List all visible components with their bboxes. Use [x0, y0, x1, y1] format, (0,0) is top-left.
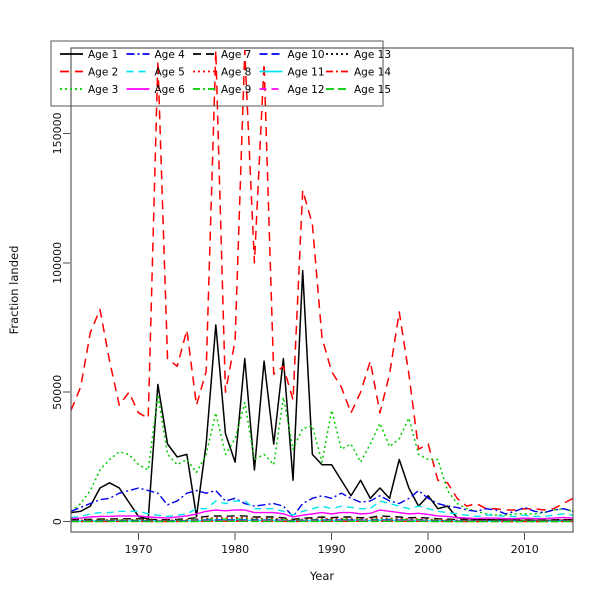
x-tick-label: 1990 — [318, 543, 346, 556]
legend-label: Age 13 — [354, 49, 391, 61]
fraction-landed-line-chart: 19701980199020002010 050000100000150000 … — [0, 0, 600, 600]
y-tick-label: 100000 — [51, 242, 64, 284]
legend-label: Age 5 — [155, 67, 185, 79]
legend-label: Age 1 — [88, 49, 118, 61]
y-tick-label: 50000 — [51, 375, 64, 410]
y-tick-label: 150000 — [51, 112, 64, 154]
x-tick-label: 1970 — [125, 543, 153, 556]
legend-label: Age 8 — [221, 67, 251, 79]
legend-label: Age 14 — [354, 67, 391, 79]
legend-label: Age 4 — [155, 49, 186, 61]
legend-label: Age 12 — [288, 84, 325, 96]
legend-label: Age 15 — [354, 84, 391, 96]
chart-legend: Age 1Age 2Age 3Age 4Age 5Age 6Age 7Age 8… — [51, 41, 391, 106]
chart-figure: 19701980199020002010 050000100000150000 … — [0, 0, 600, 600]
legend-label: Age 7 — [221, 49, 251, 61]
legend-label: Age 3 — [88, 84, 118, 96]
x-tick-label: 1980 — [221, 543, 249, 556]
legend-label: Age 6 — [155, 84, 186, 96]
x-tick-label: 2000 — [414, 543, 442, 556]
y-tick-label: 0 — [51, 518, 64, 525]
legend-label: Age 9 — [221, 84, 251, 96]
legend-label: Age 11 — [288, 67, 325, 79]
legend-label: Age 10 — [288, 49, 325, 61]
x-axis-title: Year — [309, 569, 335, 583]
y-axis-title: Fraction landed — [7, 246, 21, 335]
x-tick-label: 2010 — [511, 543, 539, 556]
legend-label: Age 2 — [88, 67, 118, 79]
